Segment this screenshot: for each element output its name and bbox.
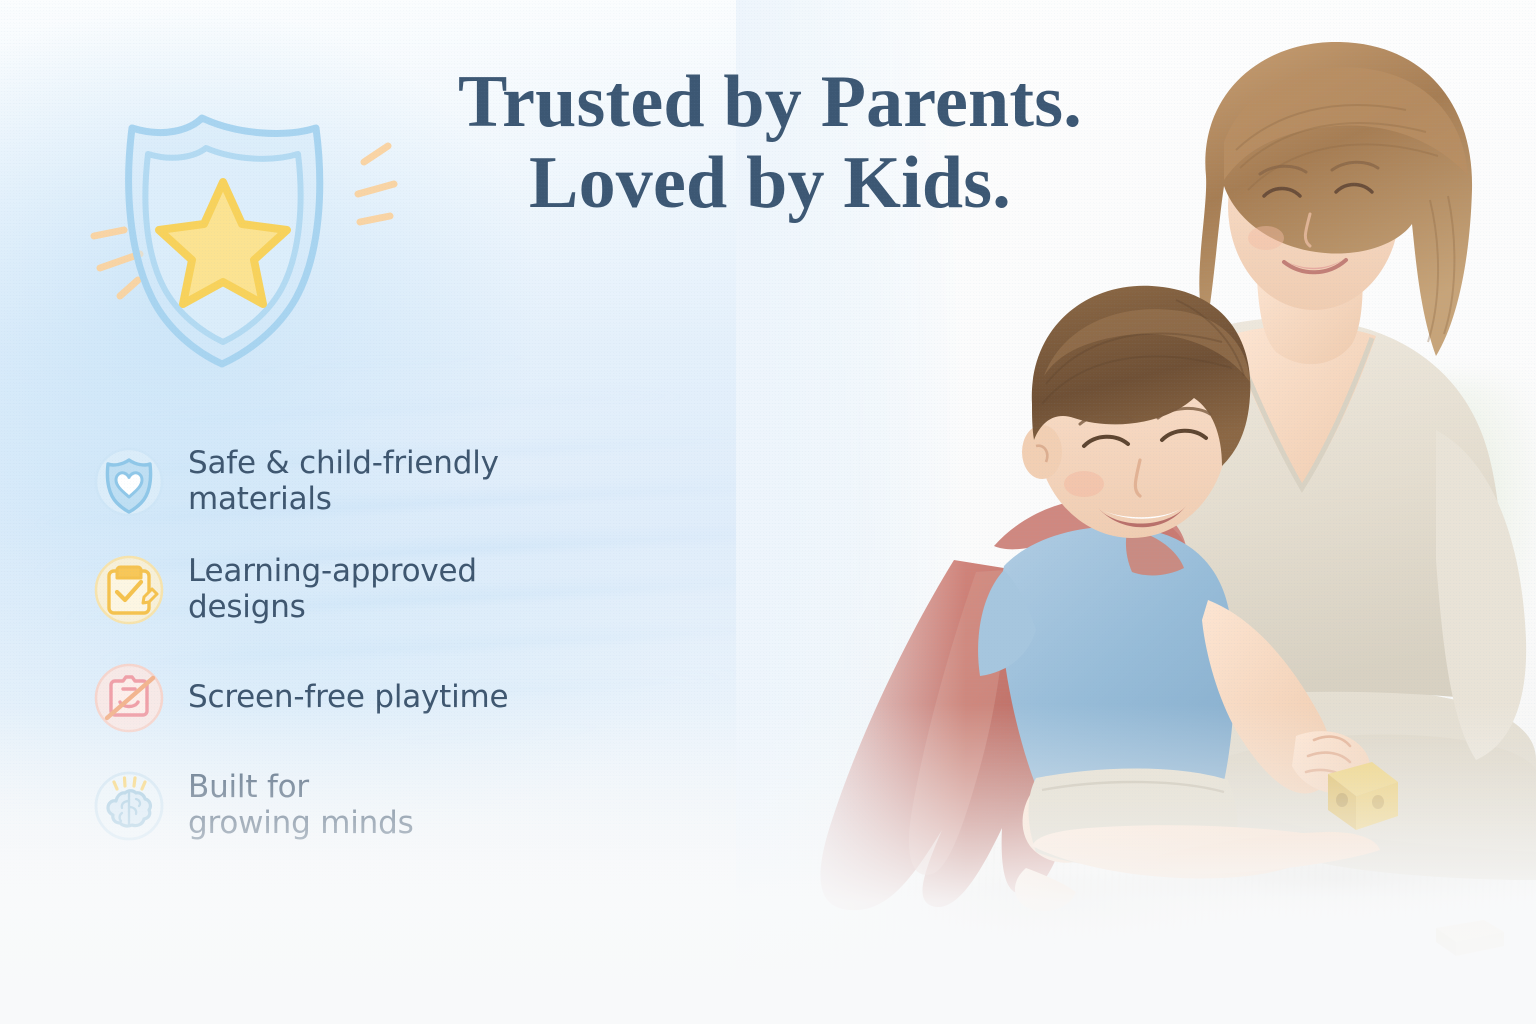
promo-banner: Trusted by Parents. Loved by Kids. Safe … [0, 0, 1536, 1024]
bottom-fade-overlay [0, 704, 1536, 1024]
